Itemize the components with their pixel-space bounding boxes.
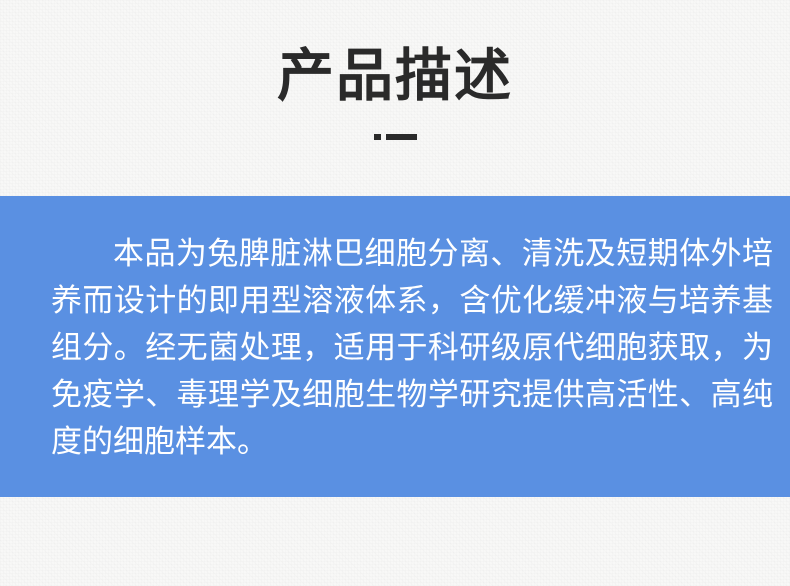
- description-panel: 本品为兔脾脏淋巴细胞分离、清洗及短期体外培养而设计的即用型溶液体系，含优化缓冲液…: [0, 196, 790, 497]
- title-divider: [0, 133, 790, 141]
- footer-spacer: [0, 497, 790, 586]
- description-body-text: 本品为兔脾脏淋巴细胞分离、清洗及短期体外培养而设计的即用型溶液体系，含优化缓冲液…: [51, 230, 773, 465]
- divider-dot-icon: [374, 134, 381, 140]
- page-header: 产品描述: [0, 0, 790, 196]
- divider-bar-icon: [386, 134, 417, 140]
- page-title: 产品描述: [0, 42, 790, 110]
